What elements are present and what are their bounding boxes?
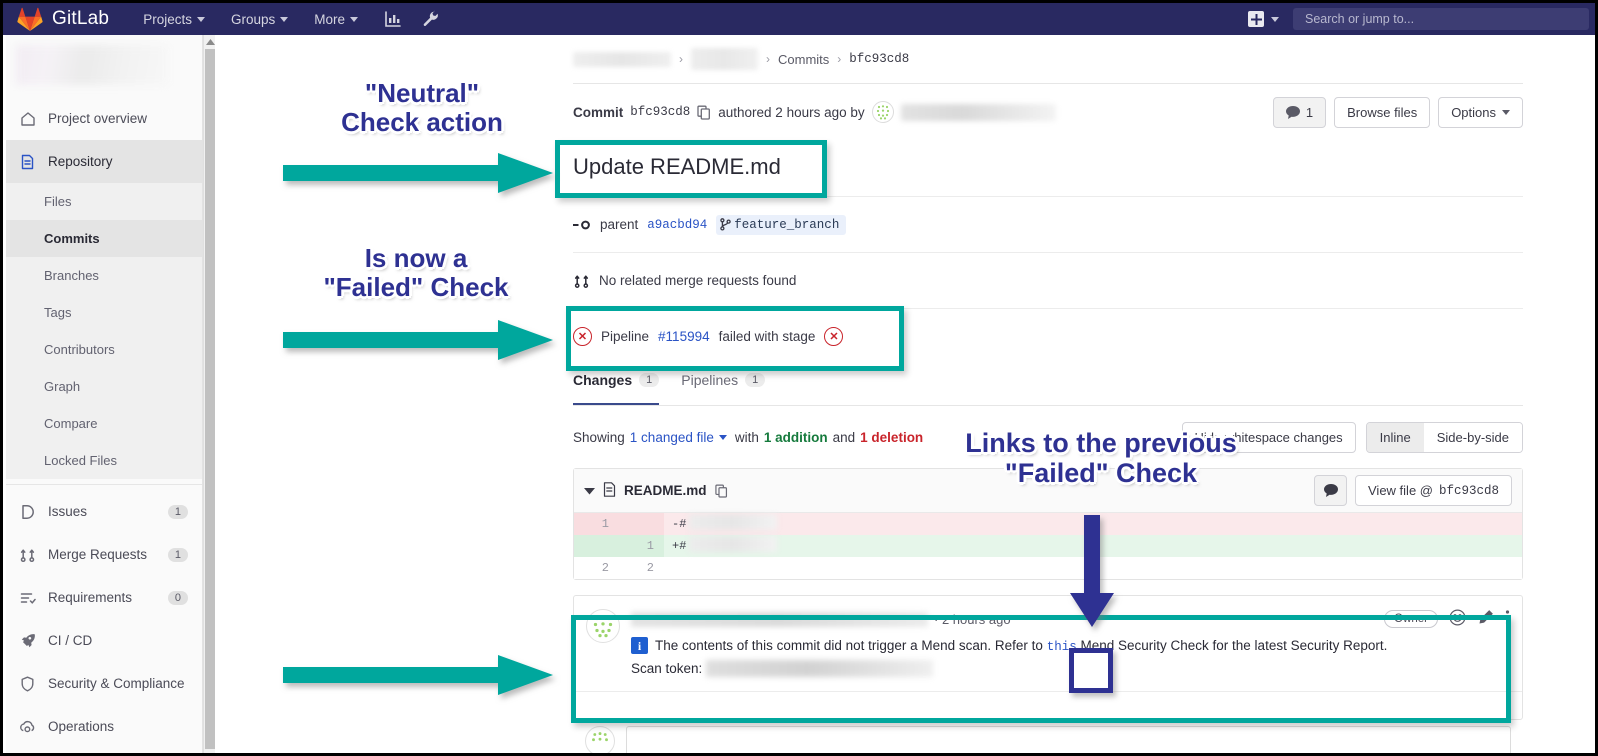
diff-new-line-number [619, 513, 664, 535]
scroll-up-arrow-icon[interactable] [204, 35, 216, 48]
sidebar-item-tags[interactable]: Tags [6, 294, 202, 331]
shield-icon [19, 675, 36, 692]
tab-pipelines-count: 1 [745, 373, 765, 387]
diff-row-deletion[interactable]: 1 -# [574, 513, 1522, 535]
comment-icon [1324, 484, 1338, 497]
new-item-plus-icon[interactable] [1248, 11, 1264, 27]
sidebar-item-graph[interactable]: Graph [6, 368, 202, 405]
merge-requests-row: No related merge requests found [573, 252, 1523, 308]
nav-more[interactable]: More [314, 12, 358, 27]
commit-node-icon [573, 218, 591, 232]
sidebar-sub-label: Graph [44, 379, 80, 394]
hide-whitespace-button[interactable]: Hide whitespace changes [1182, 422, 1356, 453]
avatar[interactable] [586, 609, 620, 643]
sidebar-item-security-compliance[interactable]: Security & Compliance [6, 662, 202, 705]
document-icon [19, 153, 36, 170]
main-content: › › Commits › bfc93cd8 Commit bfc93cd8 a… [216, 35, 1595, 756]
requirements-count-badge: 0 [168, 591, 188, 605]
file-name: README.md [624, 483, 707, 498]
new-note-input[interactable] [626, 726, 1511, 756]
navbar-right: Search or jump to... [1248, 3, 1589, 35]
file-diff-header: README.md View file @ bfc93cd8 [574, 469, 1522, 513]
info-icon: i [631, 637, 648, 654]
note-author-redacted [631, 612, 928, 627]
breadcrumb-commits[interactable]: Commits [778, 52, 829, 67]
diff-code-addition: +# [664, 535, 1522, 557]
merge-requests-count-badge: 1 [168, 548, 188, 562]
parent-label: parent [600, 217, 638, 232]
project-name-redacted [16, 45, 168, 85]
commit-authored-text: authored 2 hours ago by [718, 105, 864, 120]
sidebar-item-compare[interactable]: Compare [6, 405, 202, 442]
options-button[interactable]: Options [1438, 97, 1523, 128]
issues-count-badge: 1 [168, 505, 188, 519]
diff-old-line-number [574, 535, 619, 557]
diff-text: # [679, 517, 686, 531]
breadcrumb-group-redacted[interactable] [573, 52, 671, 67]
nav-projects-label: Projects [143, 12, 192, 27]
diff-code-deletion: -# [664, 513, 1522, 535]
pipeline-prefix: Pipeline [601, 329, 649, 344]
sidebar-label: Project overview [48, 111, 147, 126]
deletions-count: 1 deletion [860, 430, 923, 445]
pipeline-failed-icon: ✕ [573, 327, 592, 346]
sidebar-divider [6, 484, 202, 485]
browse-files-label: Browse files [1347, 105, 1417, 120]
additions-count: 1 addition [764, 430, 828, 445]
sidebar-item-files[interactable]: Files [6, 183, 202, 220]
home-icon [19, 110, 36, 127]
diff-content-redacted [689, 536, 777, 552]
view-file-sha: bfc93cd8 [1439, 484, 1499, 498]
sidebar-item-locked-files[interactable]: Locked Files [6, 442, 202, 479]
parent-sha-link[interactable]: a9acbd94 [647, 218, 707, 232]
this-link[interactable]: this [1047, 640, 1077, 654]
gitlab-logo-icon[interactable] [17, 7, 43, 31]
wrench-icon[interactable] [422, 10, 440, 28]
chevron-down-icon [350, 17, 358, 22]
breadcrumb-separator: › [766, 52, 770, 66]
diff-old-line-number: 2 [574, 557, 619, 579]
sidebar-scrollbar[interactable] [203, 35, 215, 756]
sidebar-label: Security & Compliance [48, 676, 185, 691]
pipeline-suffix: failed with stage [719, 329, 816, 344]
side-by-side-label: Side-by-side [1437, 430, 1509, 445]
sidebar-label: Issues [48, 504, 87, 519]
edit-pencil-icon[interactable] [1477, 609, 1494, 629]
sidebar-label: Repository [48, 154, 113, 169]
browse-files-button[interactable]: Browse files [1334, 97, 1430, 128]
search-placeholder: Search or jump to... [1305, 12, 1414, 26]
with-label: with [735, 430, 759, 445]
sidebar-label: Merge Requests [48, 547, 147, 562]
note-footer-divider [574, 691, 1522, 719]
avatar[interactable] [585, 726, 615, 756]
diff-view-toggle: Inline Side-by-side [1366, 422, 1523, 453]
chevron-down-icon [280, 17, 288, 22]
issues-icon [19, 503, 36, 520]
pipeline-row: ✕ Pipeline #115994 failed with stage ✕ [573, 308, 1523, 364]
operations-icon [19, 718, 36, 735]
sidebar-sub-label: Contributors [44, 342, 115, 357]
nav-groups[interactable]: Groups [231, 12, 288, 27]
note-actions: Owner [1384, 609, 1510, 629]
screenshot-root: GitLab Projects Groups More [0, 0, 1598, 756]
diff-content-redacted [689, 514, 777, 530]
copy-sha-icon[interactable] [697, 105, 711, 120]
diff-new-line-number: 1 [619, 535, 664, 557]
pipeline-stage-failed-icon[interactable]: ✕ [824, 327, 843, 346]
sidebar-item-commits[interactable]: Commits [6, 220, 202, 257]
chevron-down-icon[interactable] [1271, 17, 1279, 22]
branch-chip[interactable]: feature_branch [716, 215, 846, 235]
sidebar-item-project-overview[interactable]: Project overview [6, 97, 202, 140]
copy-file-path-icon[interactable] [715, 484, 728, 498]
chevron-down-icon [197, 17, 205, 22]
diff-row-addition[interactable]: 1 +# [574, 535, 1522, 557]
sidebar-item-repository[interactable]: Repository [6, 140, 202, 183]
sidebar-sub-label: Files [44, 194, 71, 209]
tab-changes[interactable]: Changes 1 [573, 364, 659, 405]
showing-label: Showing [573, 430, 625, 445]
options-label: Options [1451, 105, 1496, 120]
owner-badge: Owner [1384, 610, 1438, 628]
sidebar-label: Operations [48, 719, 114, 734]
file-diff-box: README.md View file @ bfc93cd8 [573, 468, 1523, 580]
scrollbar-thumb[interactable] [205, 49, 215, 749]
sidebar-sub-label: Compare [44, 416, 97, 431]
author-name-redacted [901, 104, 1056, 121]
emoji-icon[interactable] [1449, 609, 1466, 629]
collapse-toggle-icon[interactable] [584, 483, 595, 498]
breadcrumb-current-sha: bfc93cd8 [849, 52, 909, 66]
project-header[interactable] [6, 35, 202, 97]
branch-name: feature_branch [734, 218, 839, 232]
file-actions: View file @ bfc93cd8 [1314, 475, 1512, 506]
breadcrumb-separator: › [837, 52, 841, 66]
note-header: · 2 hours ago Owner [631, 609, 1510, 629]
inline-label: Inline [1380, 430, 1411, 445]
commit-meta-row: Commit bfc93cd8 authored 2 hours ago by [573, 84, 1523, 140]
pipeline-id-link[interactable]: #115994 [658, 329, 710, 344]
top-navbar: GitLab Projects Groups More [3, 3, 1595, 35]
analytics-icon[interactable] [384, 10, 402, 28]
author-avatar[interactable] [872, 101, 894, 123]
tab-pipelines[interactable]: Pipelines 1 [681, 364, 765, 405]
nav-projects[interactable]: Projects [143, 12, 205, 27]
diff-text: # [679, 539, 686, 553]
hide-whitespace-label: Hide whitespace changes [1195, 430, 1343, 445]
left-sidebar: Project overview Repository Files Commit… [6, 35, 203, 756]
file-type-icon [603, 482, 616, 500]
note-body: · 2 hours ago Owner [631, 609, 1510, 677]
commit-page: › › Commits › bfc93cd8 Commit bfc93cd8 a… [573, 35, 1523, 756]
note-text: i The contents of this commit did not tr… [631, 635, 1510, 658]
diff-summary-bar: Showing 1 changed file with 1 addition a… [573, 406, 1523, 468]
sidebar-label: Requirements [48, 590, 132, 605]
sidebar-sub-label: Commits [44, 231, 100, 246]
breadcrumb-separator: › [679, 52, 683, 66]
tab-changes-label: Changes [573, 372, 632, 388]
diff-row-context[interactable]: 2 2 [574, 557, 1522, 579]
comment-count: 1 [1306, 105, 1313, 120]
commit-sha: bfc93cd8 [630, 105, 690, 119]
parent-commit-row: parent a9acbd94 feature_branch [573, 196, 1523, 252]
chevron-down-icon [1502, 110, 1510, 115]
nav-groups-label: Groups [231, 12, 275, 27]
sidebar-item-contributors[interactable]: Contributors [6, 331, 202, 368]
commit-title: Update README.md [573, 140, 1523, 196]
note-item: · 2 hours ago Owner [574, 596, 1522, 691]
nav-more-label: More [314, 12, 345, 27]
sidebar-item-issues[interactable]: Issues 1 [6, 490, 202, 533]
note-text-after: Mend Security Check for the latest Secur… [1080, 638, 1387, 653]
sidebar-label: CI / CD [48, 633, 92, 648]
note-text-before: The contents of this commit did not trig… [655, 638, 1043, 653]
sidebar-sub-label: Locked Files [44, 453, 117, 468]
commit-label: Commit [573, 105, 623, 120]
scan-token-redacted [706, 660, 933, 677]
diff-code-context [664, 557, 1522, 579]
diff-new-line-number: 2 [619, 557, 664, 579]
breadcrumb-project-redacted[interactable] [691, 48, 758, 70]
and-label: and [833, 430, 856, 445]
commit-actions: 1 Browse files Options [1273, 97, 1523, 128]
note-text-content: The contents of this commit did not trig… [655, 635, 1387, 658]
sidebar-item-requirements[interactable]: Requirements 0 [6, 576, 202, 619]
comment-icon [1286, 106, 1300, 119]
more-options-icon[interactable] [1505, 609, 1510, 629]
requirements-icon [19, 589, 36, 606]
rocket-icon [19, 632, 36, 649]
merge-request-icon [573, 273, 590, 289]
sidebar-item-branches[interactable]: Branches [6, 257, 202, 294]
sidebar-item-merge-requests[interactable]: Merge Requests 1 [6, 533, 202, 576]
tab-changes-count: 1 [639, 373, 659, 387]
tab-pipelines-label: Pipelines [681, 372, 738, 388]
file-comment-button[interactable] [1314, 475, 1347, 506]
commit-tabs: Changes 1 Pipelines 1 [573, 364, 1523, 406]
notes-block: · 2 hours ago Owner [573, 595, 1523, 720]
sidebar-sub-label: Tags [44, 305, 71, 320]
brand-label: GitLab [52, 8, 109, 30]
view-file-button[interactable]: View file @ bfc93cd8 [1355, 475, 1512, 506]
diff-view-controls: Hide whitespace changes Inline Side-by-s… [1182, 422, 1524, 453]
repository-submenu: Files Commits Branches Tags Contributors… [6, 183, 202, 479]
diff-old-line-number: 1 [574, 513, 619, 535]
merge-requests-text: No related merge requests found [599, 273, 796, 288]
sidebar-item-operations[interactable]: Operations [6, 705, 202, 748]
note-timestamp: · 2 hours ago [934, 612, 1011, 627]
view-file-label: View file @ [1368, 483, 1433, 498]
merge-request-icon [19, 546, 36, 563]
inline-view-button[interactable]: Inline [1367, 423, 1424, 452]
sidebar-item-ci-cd[interactable]: CI / CD [6, 619, 202, 662]
scan-token-row: Scan token: [631, 660, 1510, 677]
breadcrumb: › › Commits › bfc93cd8 [573, 35, 1523, 83]
changed-file-dropdown[interactable]: 1 changed file [630, 430, 714, 445]
comment-count-button[interactable]: 1 [1273, 97, 1326, 128]
chevron-down-icon[interactable] [719, 435, 727, 440]
search-input[interactable]: Search or jump to... [1293, 8, 1589, 30]
branch-icon [720, 218, 731, 231]
new-note-row [573, 720, 1523, 756]
scan-token-label: Scan token: [631, 661, 702, 676]
sidebar-sub-label: Branches [44, 268, 99, 283]
side-by-side-view-button[interactable]: Side-by-side [1424, 423, 1522, 452]
